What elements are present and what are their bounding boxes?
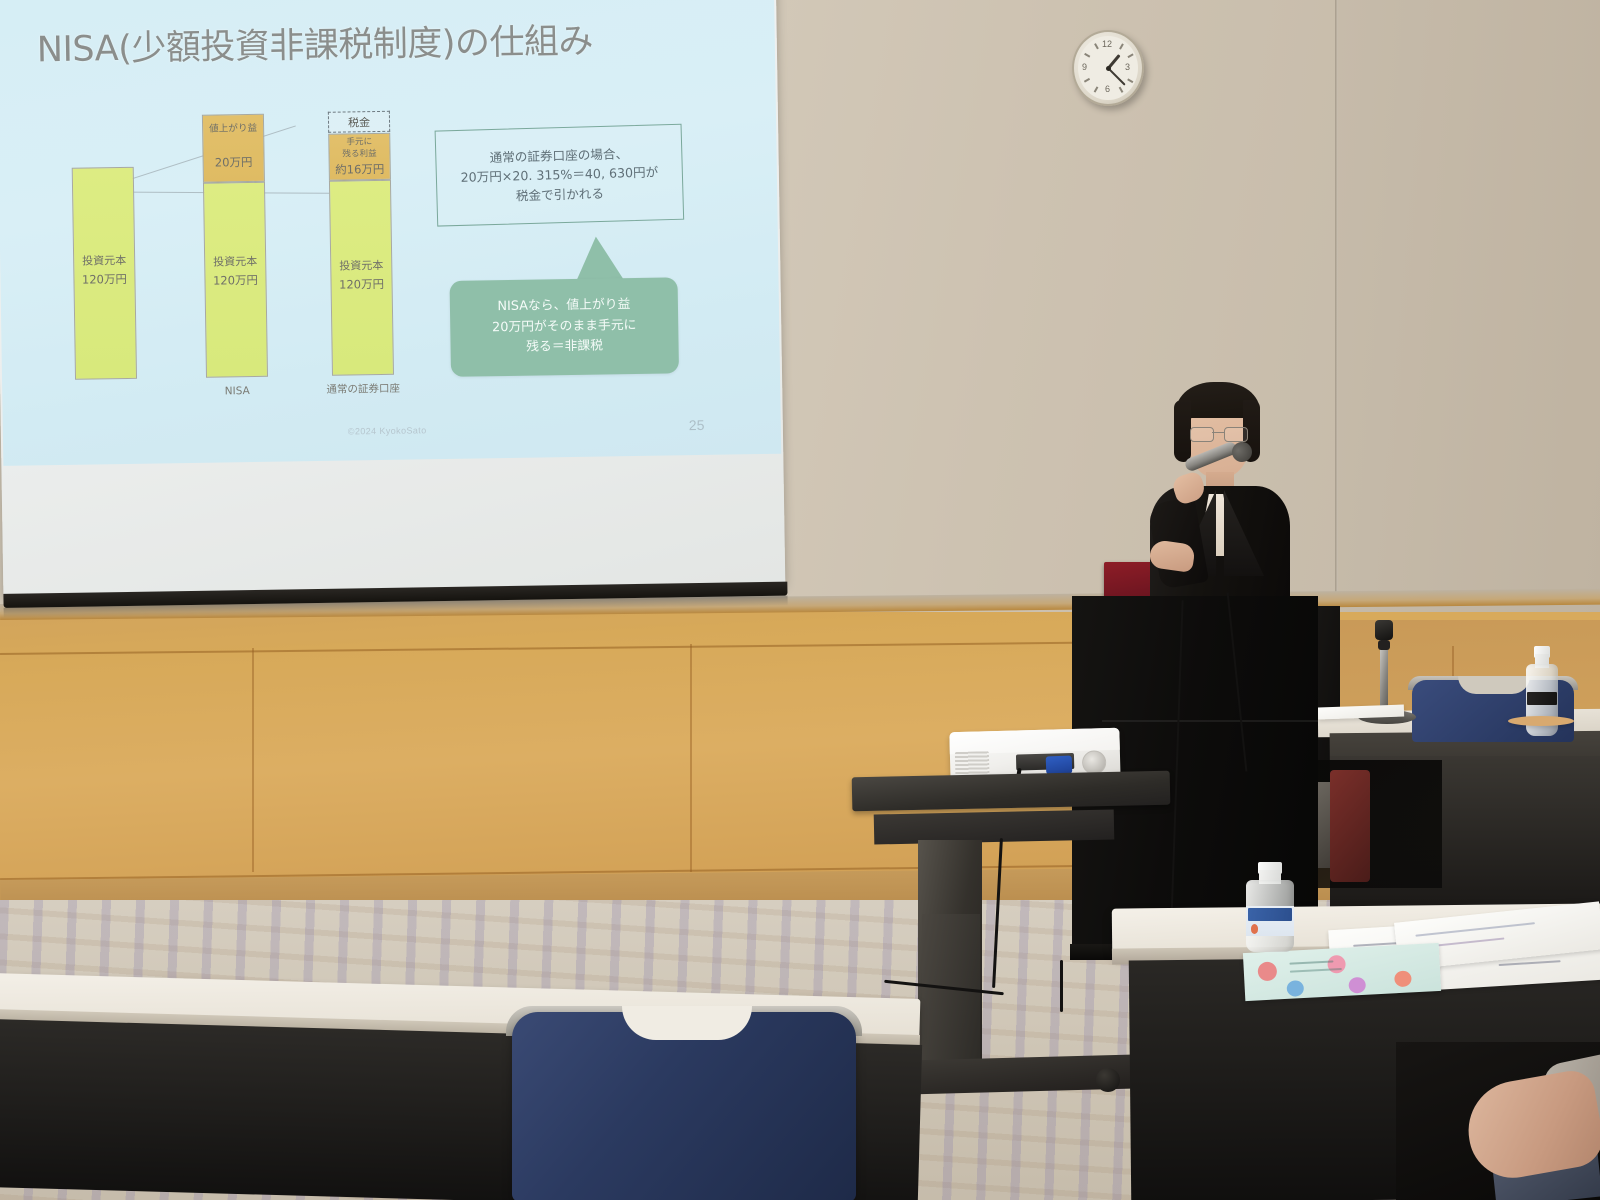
front-chair <box>512 1012 856 1200</box>
seminar-room-scene: 12 3 6 9 NISA(少額投資非課税制度)の仕組み 投資元本 120万円 <box>0 0 1600 1200</box>
tax-dashed-box: 税金 <box>328 111 390 133</box>
bar-nisa-gain-label: 値上がり益 <box>203 123 263 137</box>
presenter-hair-left <box>1174 400 1191 462</box>
bar-base-principal-amount: 120万円 <box>74 272 134 288</box>
podium-seam <box>1102 720 1318 722</box>
wall-right-plane <box>1336 0 1600 645</box>
clock-numeral-3: 3 <box>1125 62 1130 72</box>
glasses-lens-left <box>1190 427 1214 442</box>
bar-taxable-gain-amount: 約16万円 <box>330 162 390 178</box>
wainscot-seam-2 <box>690 644 692 872</box>
glasses-lens-right <box>1224 427 1248 442</box>
bar-taxable-principal: 投資元本 120万円 <box>329 180 394 376</box>
bar-base-principal: 投資元本 120万円 <box>72 167 137 380</box>
clock-numeral-12: 12 <box>1102 39 1112 49</box>
water-bottle-front <box>1246 862 1294 958</box>
bar-nisa-gain: 値上がり益 20万円 <box>202 114 265 183</box>
bubble-text: NISAなら、値上がり益 20万円がそのまま手元に 残る＝非課税 <box>492 295 637 359</box>
clock-face: 12 3 6 9 <box>1078 36 1138 100</box>
bottle-label <box>1527 692 1556 705</box>
bar-taxable-principal-amount: 120万円 <box>331 277 391 293</box>
bottle-label-brand-band <box>1248 908 1292 921</box>
note-box-text: 通常の証券口座の場合、 20万円×20. 315%＝40, 630円が 税金で引… <box>460 143 659 207</box>
wall-clock: 12 3 6 9 <box>1072 30 1144 106</box>
projection-screen: NISA(少額投資非課税制度)の仕組み 投資元本 120万円 値上がり益 20万… <box>0 0 794 624</box>
highlight-bubble: NISAなら、値上がり益 20万円がそのまま手元に 残る＝非課税 <box>450 277 679 377</box>
mic-stand-head-icon <box>1375 620 1393 640</box>
mic-stand-clip <box>1378 640 1390 650</box>
clock-center-pin <box>1106 66 1111 71</box>
projector-cart-shelf <box>874 809 1115 844</box>
bar-taxable-gain-label-1: 手元に <box>329 137 389 150</box>
slide-title: NISA(少額投資非課税制度)の仕組み <box>36 10 737 72</box>
glasses-icon <box>1190 427 1248 440</box>
back-table-coaster <box>1508 716 1574 726</box>
screen-surface: NISA(少額投資非課税制度)の仕組み 投資元本 120万円 値上がり益 20万… <box>0 0 785 596</box>
cart-caster-right <box>1096 1068 1120 1092</box>
bar-nisa-principal: 投資元本 120万円 <box>203 182 268 378</box>
presenter <box>1128 382 1308 602</box>
bar-nisa-principal-amount: 120万円 <box>205 273 265 289</box>
wainscot-seam-1 <box>252 648 254 872</box>
note-box: 通常の証券口座の場合、 20万円×20. 315%＝40, 630円が 税金で引… <box>435 124 685 227</box>
bar-taxable-gain-label-2: 残る利益 <box>329 149 389 162</box>
vga-connector <box>1046 756 1073 775</box>
bar-nisa-category-label: NISA <box>206 384 268 399</box>
slide-page-number: 25 <box>689 417 705 433</box>
slide-copyright: ©2024 KyokoSato <box>348 425 427 436</box>
presentation-slide: NISA(少額投資非課税制度)の仕組み 投資元本 120万円 値上がり益 20万… <box>0 0 781 466</box>
bar-nisa-principal-label: 投資元本 <box>205 255 265 271</box>
bar-taxable-category-label: 通常の証券口座 <box>302 381 424 397</box>
podium-cable-floor <box>1060 960 1063 1012</box>
clock-numeral-6: 6 <box>1105 84 1110 94</box>
tax-label: 税金 <box>348 114 370 130</box>
clock-numeral-9: 9 <box>1082 62 1087 72</box>
bar-taxable-principal-label: 投資元本 <box>331 259 391 275</box>
wall-corner-edge <box>1335 0 1338 640</box>
red-chair-partial <box>1330 770 1370 882</box>
bar-nisa-gain-amount: 20万円 <box>204 155 264 171</box>
bar-taxable-gain: 手元に 残る利益 約16万円 <box>328 133 391 181</box>
bar-base-principal-label: 投資元本 <box>74 254 134 270</box>
glasses-bridge <box>1212 432 1224 433</box>
projector-cart-top <box>852 771 1171 812</box>
